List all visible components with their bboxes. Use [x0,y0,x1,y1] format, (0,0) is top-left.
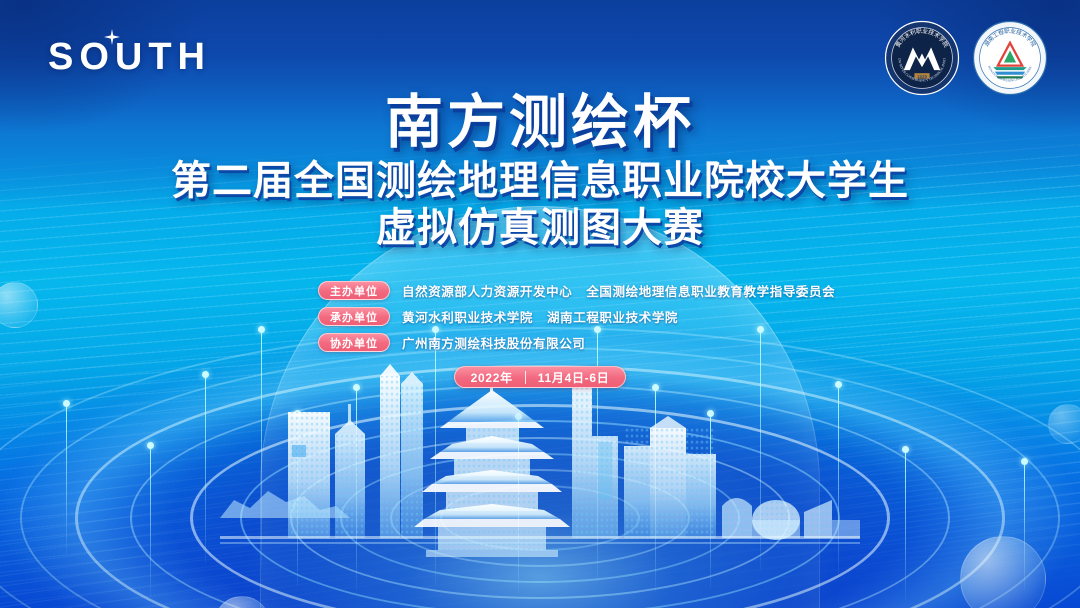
huanghe-water-conservancy-vocational-college-emblem: 1929 黄河水利职业技术学院 YELLOW RIVER CONSERVANCY… [884,20,960,96]
organizer-entities: 黄河水利职业技术学院湖南工程职业技术学院 [402,307,678,326]
survey-marker-pole [905,450,906,600]
organizer-entity: 广州南方测绘科技股份有限公司 [402,337,585,351]
organizer-badge: 承办单位 [318,307,390,326]
organizer-row: 主办单位 自然资源部人力资源开发中心全国测绘地理信息职业教育教学指导委员会 [0,281,1080,300]
survey-marker-pole [205,375,206,563]
event-date-range: 11月4日-6日 [526,369,622,386]
survey-marker-pole [66,404,67,554]
poster-canvas: SOUTH 1929 黄河水利职业技术学院 YELLOW RIVER CONSE… [0,0,1080,608]
svg-text:1929: 1929 [917,74,928,79]
organizer-entity: 自然资源部人力资源开发中心 [402,285,572,299]
organizer-row: 协办单位 广州南方测绘科技股份有限公司 [0,333,1080,352]
decorative-bubble [1048,404,1080,444]
event-date-block: 2022年 11月4日-6日 [0,366,1080,388]
south-logo[interactable]: SOUTH [48,38,211,76]
event-date-pill: 2022年 11月4日-6日 [454,366,627,388]
organizer-badge: 协办单位 [318,333,390,352]
organizer-entities: 广州南方测绘科技股份有限公司 [402,333,585,352]
poster-main-title: 南方测绘杯 [0,92,1080,153]
organizer-entity: 全国测绘地理信息职业教育教学指导委员会 [586,285,835,299]
poster-subtitle-line1: 第二届全国测绘地理信息职业院校大学生 [0,159,1080,204]
organizer-entity: 黄河水利职业技术学院 [402,311,533,325]
event-year: 2022年 [459,369,525,386]
survey-marker-pole [150,446,151,596]
south-logo-text: SOUTH [48,38,211,76]
organizer-entities: 自然资源部人力资源开发中心全国测绘地理信息职业教育教学指导委员会 [402,281,835,300]
organizer-badge: 主办单位 [318,281,390,300]
hunan-engineering-polytechnic-emblem: 湖南工程职业技术学院 HUNAN ENGINEERING POLYTECHNIC [972,20,1048,96]
organizer-list: 主办单位 自然资源部人力资源开发中心全国测绘地理信息职业教育教学指导委员会 承办… [0,281,1080,359]
organizer-entity: 湖南工程职业技术学院 [547,311,678,325]
poster-subtitle-line2: 虚拟仿真测图大赛 [0,206,1080,251]
partner-emblems: 1929 黄河水利职业技术学院 YELLOW RIVER CONSERVANCY… [884,20,1048,96]
poster-title-block: 南方测绘杯 第二届全国测绘地理信息职业院校大学生 虚拟仿真测图大赛 [0,92,1080,251]
organizer-row: 承办单位 黄河水利职业技术学院湖南工程职业技术学院 [0,307,1080,326]
